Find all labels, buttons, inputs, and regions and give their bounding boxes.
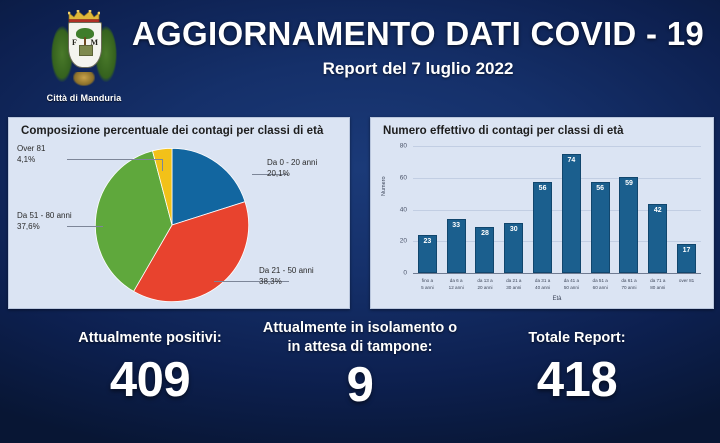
covid-report-slide: F M Città di Manduria AGGIORNAMENTO DATI… [0,0,720,443]
bar-column: 23 [413,146,442,273]
y-axis-tick-label: 80 [387,143,407,150]
stat-totale-report: Totale Report: 418 [452,329,702,405]
report-date-subtitle: Report del 7 luglio 2022 [130,59,706,79]
bar-value-label: 28 [481,230,489,237]
x-axis-tick-label: da 21 a30 anni [499,278,528,292]
y-axis-tick-label: 0 [387,270,407,277]
bar-column: 30 [499,146,528,273]
bar-column: 42 [643,146,672,273]
bar-value-label: 33 [452,222,460,229]
bar-column: 17 [672,146,701,273]
x-axis-tick-label: da 13 a20 anni [471,278,500,292]
stat-value: 9 [242,361,478,410]
crest-letter-f: F [72,38,77,47]
leader-line-51-80 [67,226,103,227]
x-axis-tick-label: da 51 a60 anni [586,278,615,292]
leader-line-over81 [67,159,162,160]
y-axis-tick-label: 40 [387,206,407,213]
crest-letter-m: M [90,38,98,47]
pie-label-51-80-anni: Da 51 - 80 anni 37,6% [17,211,72,233]
report-header: F M Città di Manduria AGGIORNAMENTO DATI… [0,0,720,112]
summary-stats: Attualmente positivi: 409 Attualmente in… [0,315,720,443]
x-axis-tick-label: da 71 a80 anni [643,278,672,292]
bar-column: 74 [557,146,586,273]
bar-column: 56 [586,146,615,273]
bar: 74 [562,154,581,273]
bar-value-label: 42 [654,207,662,214]
bar: 28 [475,227,494,273]
bar: 30 [504,223,523,273]
x-axis-line [413,273,701,274]
bar-series: 23332830567456594217 [413,146,701,273]
municipal-crest-block: F M Città di Manduria [38,8,130,103]
bar-value-label: 59 [625,180,633,187]
stat-attualmente-positivi: Attualmente positivi: 409 [20,329,280,405]
bar: 42 [648,204,667,273]
stat-label-line2: in attesa di tampone: [242,338,478,357]
x-axis-tick-label: da 31 a40 anni [528,278,557,292]
bar: 23 [418,235,437,274]
bar-value-label: 17 [683,247,691,254]
y-axis-tick-label: 60 [387,174,407,181]
stat-label-line1: Attualmente in isolamento o [242,319,478,338]
stat-value: 409 [20,356,280,405]
title-block: AGGIORNAMENTO DATI COVID - 19 Report del… [130,16,706,79]
y-axis-tick-label: 20 [387,238,407,245]
bar-value-label: 56 [539,185,547,192]
stat-label: Attualmente positivi: [20,329,280,348]
pie-label-0-20-anni: Da 0 - 20 anni 20,1% [267,158,317,180]
bar-column: 33 [442,146,471,273]
pie-chart-title: Composizione percentuale dei contagi per… [21,125,323,137]
page-title: AGGIORNAMENTO DATI COVID - 19 [130,16,706,52]
bar-value-label: 30 [510,226,518,233]
municipality-name: Città di Manduria [38,93,130,103]
bar-chart-x-tick-labels: fino a5 annida 6 a12 annida 13 a20 annid… [413,278,701,292]
bar: 33 [447,219,466,273]
bar-column: 56 [528,146,557,273]
bar: 56 [533,182,552,273]
bar-column: 28 [471,146,500,273]
stat-value: 418 [452,356,702,405]
pie-label-over-81: Over 81 4,1% [17,144,45,166]
x-axis-tick-label: da 61 a70 anni [615,278,644,292]
bar-chart-title: Numero effettivo di contagi per classi d… [383,125,624,137]
bar: 56 [591,182,610,273]
x-axis-tick-label: fino a5 anni [413,278,442,292]
pie-chart [93,146,253,306]
stat-attualmente-in-isolamento: Attualmente in isolamento o in attesa di… [242,319,478,410]
bar-value-label: 23 [423,238,431,245]
bar-chart-x-axis-title: Età [413,296,701,302]
bar-value-label: 74 [567,157,575,164]
wreath-knot-icon [73,72,95,86]
bar-chart-panel: Numero effettivo di contagi per classi d… [370,117,714,309]
coat-of-arms-icon: F M [51,8,117,92]
x-axis-tick-label: da 41 a50 anni [557,278,586,292]
stat-label: Totale Report: [452,329,702,348]
bar-chart-plot-area: 020406080 23332830567456594217 [413,146,701,274]
leader-line-over81-vertical [162,159,163,171]
bar-column: 59 [615,146,644,273]
shield-icon: F M [68,22,102,68]
bar: 17 [677,244,696,273]
bar-value-label: 56 [596,185,604,192]
pie-chart-panel: Composizione percentuale dei contagi per… [8,117,350,309]
bar: 59 [619,177,638,273]
x-axis-tick-label: over 81 [672,278,701,292]
pie-label-21-50-anni: Da 21 - 50 anni 38,3% [259,266,314,288]
x-axis-tick-label: da 6 a12 anni [442,278,471,292]
